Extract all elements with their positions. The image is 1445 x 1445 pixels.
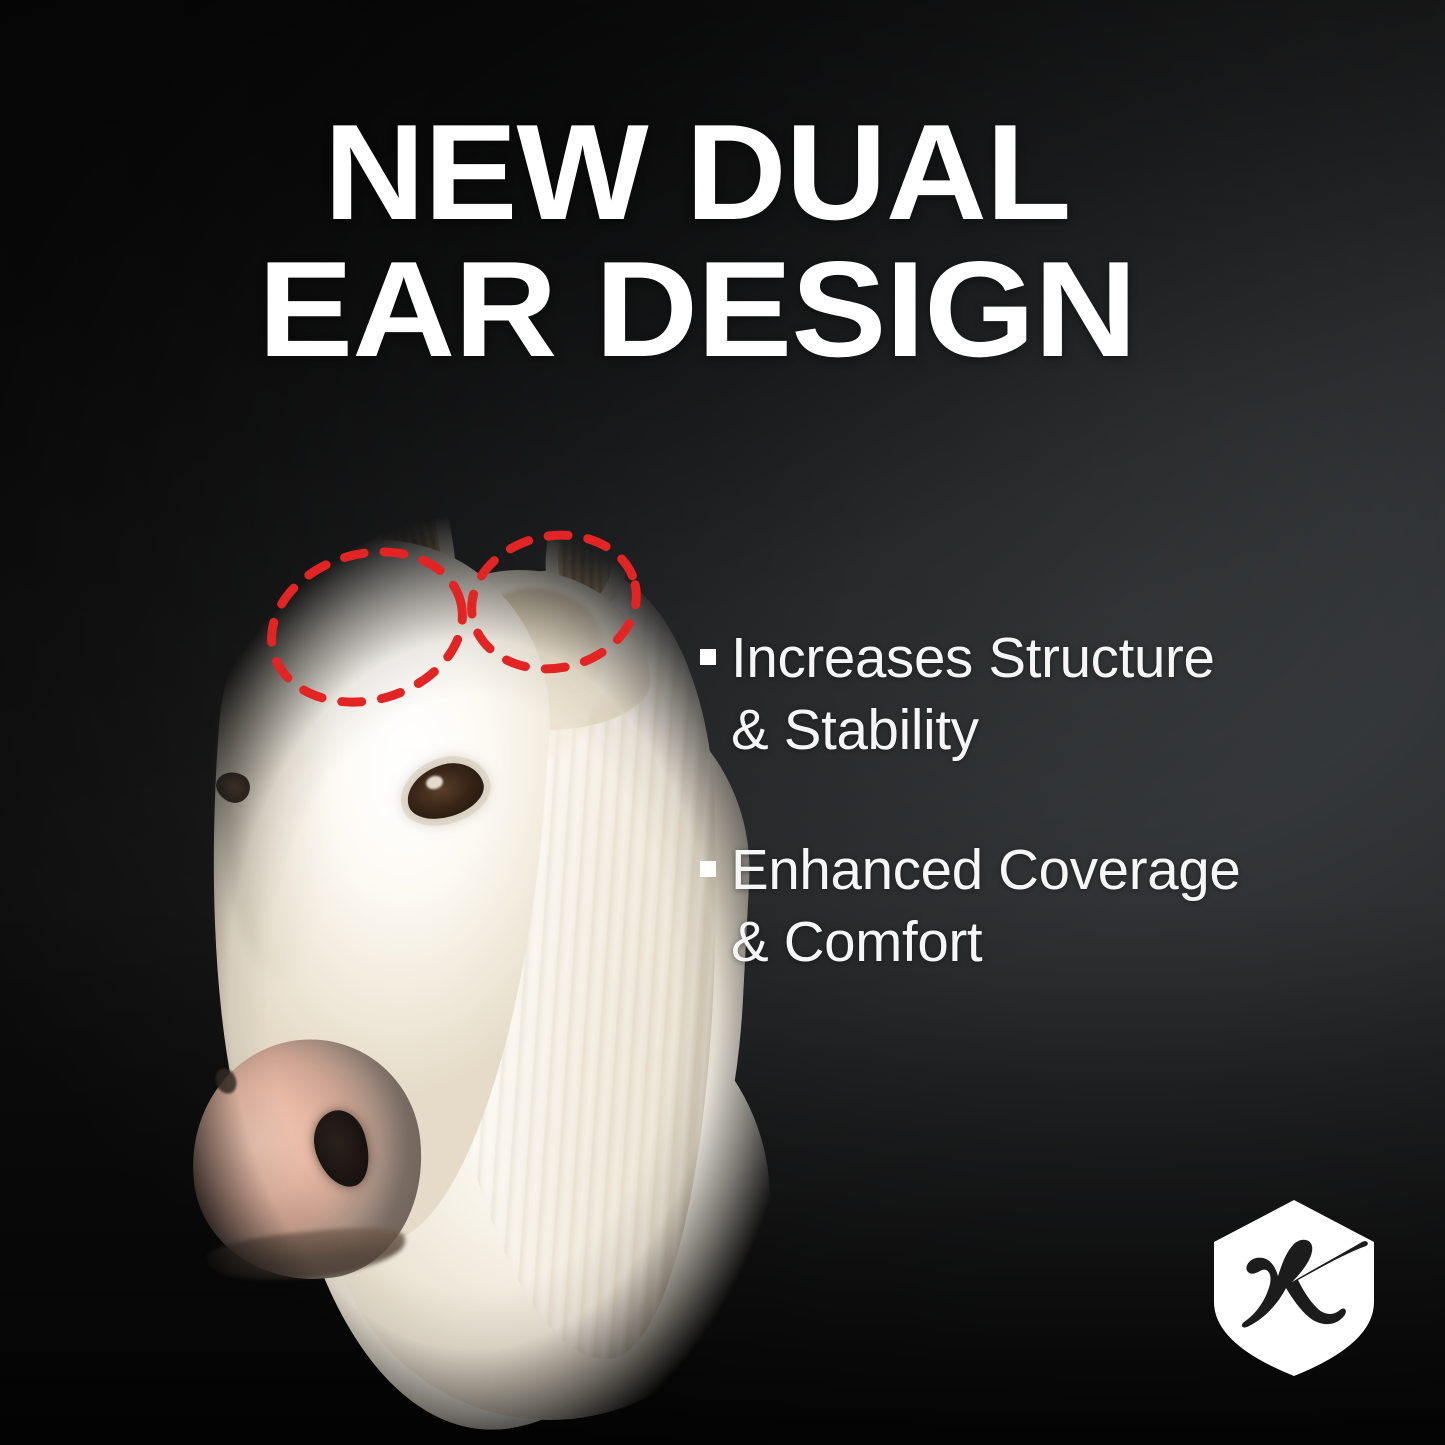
bullet-1-line-2: & Stability [731,698,979,762]
shield-k-logo [1208,1198,1380,1378]
bullet-2-line-2: & Comfort [731,910,982,974]
ad-canvas: NEW DUAL EAR DESIGN Increases Structure … [0,0,1445,1445]
bullet-1-line-1: Increases Structure [731,626,1215,690]
feature-bullet-list: Increases Structure & Stability Enhanced… [700,622,1370,1046]
list-item: Increases Structure & Stability [700,622,1370,766]
headline: NEW DUAL EAR DESIGN [258,104,1218,378]
list-item: Enhanced Coverage & Comfort [700,834,1370,978]
bullet-2-text: Enhanced Coverage & Comfort [731,834,1240,978]
square-bullet-icon [700,861,716,877]
bullet-1-text: Increases Structure & Stability [731,622,1215,766]
bullet-2-line-1: Enhanced Coverage [731,838,1240,902]
square-bullet-icon [700,649,716,665]
headline-line-1: NEW DUAL [258,104,1247,241]
headline-line-2: EAR DESIGN [258,241,1266,378]
